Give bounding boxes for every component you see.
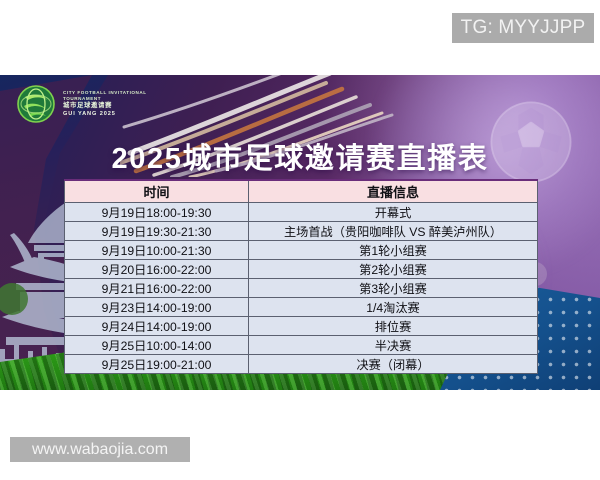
cell-info: 第1轮小组赛 <box>249 241 538 260</box>
column-header-time: 时间 <box>65 180 249 203</box>
logo-line-cn: 城市足球邀请赛 <box>63 102 147 110</box>
table-body: 9月19日18:00-19:30 开幕式 9月19日19:30-21:30 主场… <box>65 203 538 374</box>
table-row: 9月20日16:00-22:00 第2轮小组赛 <box>65 260 538 279</box>
broadcast-schedule-table: 时间 直播信息 9月19日18:00-19:30 开幕式 9月19日19:30-… <box>64 179 538 374</box>
cell-info: 第3轮小组赛 <box>249 279 538 298</box>
table-row: 9月25日19:00-21:00 决赛（闭幕） <box>65 355 538 374</box>
cell-time: 9月25日10:00-14:00 <box>65 336 249 355</box>
telegram-watermark: TG: MYYJJPP <box>452 13 594 43</box>
table-row: 9月19日19:30-21:30 主场首战（贵阳咖啡队 VS 醉美泸州队） <box>65 222 538 241</box>
cell-info: 第2轮小组赛 <box>249 260 538 279</box>
table-row: 9月19日10:00-21:30 第1轮小组赛 <box>65 241 538 260</box>
site-watermark: www.wabaojia.com <box>10 437 190 462</box>
cell-info: 主场首战（贵阳咖啡队 VS 醉美泸州队） <box>249 222 538 241</box>
table-row: 9月21日16:00-22:00 第3轮小组赛 <box>65 279 538 298</box>
cell-time: 9月19日10:00-21:30 <box>65 241 249 260</box>
cell-info: 排位赛 <box>249 317 538 336</box>
cell-time: 9月24日14:00-19:00 <box>65 317 249 336</box>
logo-line-en-1: CITY FOOTBALL INVITATIONAL <box>63 90 147 96</box>
table-row: 9月25日10:00-14:00 半决赛 <box>65 336 538 355</box>
cell-info: 开幕式 <box>249 203 538 222</box>
table-row: 9月23日14:00-19:00 1/4淘汰赛 <box>65 298 538 317</box>
tournament-logo: CITY FOOTBALL INVITATIONAL TOURNAMENT 城市… <box>16 84 147 124</box>
column-header-info: 直播信息 <box>249 180 538 203</box>
page-title: 2025城市足球邀请赛直播表 <box>0 135 600 177</box>
cell-time: 9月19日19:30-21:30 <box>65 222 249 241</box>
logo-text-block: CITY FOOTBALL INVITATIONAL TOURNAMENT 城市… <box>63 90 147 118</box>
cell-info: 1/4淘汰赛 <box>249 298 538 317</box>
cell-time: 9月19日18:00-19:30 <box>65 203 249 222</box>
cell-info: 半决赛 <box>249 336 538 355</box>
table-head: 时间 直播信息 <box>65 180 538 203</box>
cell-info: 决赛（闭幕） <box>249 355 538 374</box>
table-header-row: 时间 直播信息 <box>65 180 538 203</box>
cell-time: 9月21日16:00-22:00 <box>65 279 249 298</box>
cell-time: 9月23日14:00-19:00 <box>65 298 249 317</box>
logo-line-en-2: TOURNAMENT <box>63 96 147 102</box>
poster-banner: CITY FOOTBALL INVITATIONAL TOURNAMENT 城市… <box>0 75 600 390</box>
cell-time: 9月25日19:00-21:00 <box>65 355 249 374</box>
table-row: 9月19日18:00-19:30 开幕式 <box>65 203 538 222</box>
logo-line-year: GUI YANG 2025 <box>63 111 147 118</box>
table-row: 9月24日14:00-19:00 排位赛 <box>65 317 538 336</box>
cell-time: 9月20日16:00-22:00 <box>65 260 249 279</box>
city-football-emblem-icon <box>16 84 56 124</box>
